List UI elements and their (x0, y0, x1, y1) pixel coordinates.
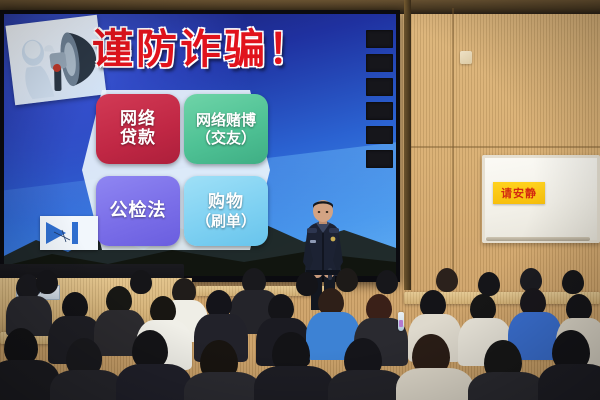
audience (0, 268, 600, 400)
audience-head (478, 272, 500, 296)
quiet-sign-label: 请安静 (501, 185, 537, 201)
audience-head (296, 272, 318, 296)
water-bottle (398, 312, 404, 331)
dark-box (366, 78, 393, 96)
wall-seam-horizontal (404, 146, 600, 148)
audience-head (436, 268, 458, 292)
door-frame-edge (404, 0, 411, 290)
audience-head (562, 270, 584, 294)
card-line2: （刷单） (196, 212, 256, 230)
screen-logo-icon (40, 216, 98, 250)
audience-body (50, 370, 124, 400)
whiteboard-tray (486, 237, 590, 241)
audience-head (336, 268, 358, 292)
wall-switch-icon[interactable] (460, 51, 472, 64)
photo-scene: 请安静 (0, 0, 600, 400)
card-line2: 贷款 (120, 129, 156, 148)
whiteboard: 请安静 (482, 155, 600, 243)
card-line2: （交友） (196, 129, 256, 147)
card-line1: 网络赌博 (196, 112, 256, 129)
dark-box (366, 126, 393, 144)
audience-head (376, 270, 398, 294)
quiet-sign: 请安静 (493, 182, 545, 204)
audience-body (396, 368, 474, 400)
card-line1: 购物 (208, 193, 244, 212)
audience-body (254, 366, 334, 400)
audience-head (130, 270, 152, 294)
audience-body (468, 372, 546, 400)
card-line1: 网络 (120, 110, 156, 129)
dark-box (366, 102, 393, 120)
slide-headline: 谨防诈骗！ (92, 27, 312, 71)
audience-body (116, 364, 192, 400)
fraud-type-cards: 网络 贷款 网络赌博 （交友） 公检法 购物 （刷单） (82, 90, 270, 250)
dark-box (366, 54, 393, 72)
wall-seam-vertical (452, 8, 454, 290)
slide-dark-boxes (366, 28, 396, 176)
audience-body (538, 364, 600, 400)
card-online-gambling: 网络赌博 （交友） (184, 94, 268, 164)
card-shopping: 购物 （刷单） (184, 176, 268, 246)
audience-body (184, 372, 262, 400)
audience-body (328, 370, 406, 400)
dark-box (366, 30, 393, 48)
card-online-loan: 网络 贷款 (96, 94, 180, 164)
dark-box (366, 150, 393, 168)
card-line1: 公检法 (110, 201, 167, 221)
card-public-security: 公检法 (96, 176, 180, 246)
audience-head (36, 270, 58, 294)
